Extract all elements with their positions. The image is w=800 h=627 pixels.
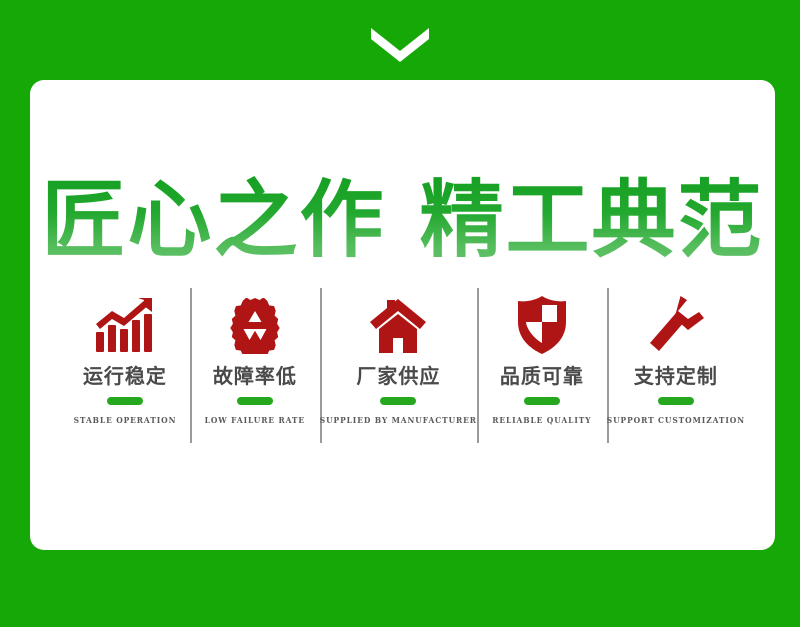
feature-label: 厂家供应 <box>356 364 440 388</box>
page-title-right: 精工典范 <box>420 171 764 269</box>
feature-item-stable-operation[interactable]: 运行稳定 STABLE OPERATION <box>60 288 190 453</box>
page-title: 匠心之作精工典范 <box>30 172 775 268</box>
feature-label: 品质可靠 <box>500 364 584 388</box>
hammer-icon <box>647 292 705 354</box>
feature-subtitle: SUPPORT CUSTOMIZATION <box>607 416 745 425</box>
bar-chart-rising-icon <box>94 292 156 354</box>
feature-subtitle: SUPPLIED BY MANUFACTURER <box>320 416 477 425</box>
page-title-left: 匠心之作 <box>41 171 385 269</box>
feature-underline <box>380 397 416 405</box>
feature-label: 运行稳定 <box>83 364 167 388</box>
feature-list: 运行稳定 STABLE OPERATION 故障率低 <box>60 288 745 453</box>
feature-underline <box>524 397 560 405</box>
shield-check-icon <box>517 292 567 354</box>
feature-underline <box>237 397 273 405</box>
feature-item-low-failure-rate[interactable]: 故障率低 LOW FAILURE RATE <box>190 288 320 453</box>
feature-item-supplied-by-manufacturer[interactable]: 厂家供应 SUPPLIED BY MANUFACTURER <box>320 288 477 453</box>
factory-house-icon <box>368 292 428 354</box>
feature-subtitle: RELIABLE QUALITY <box>492 416 591 425</box>
scroll-down-indicator[interactable] <box>0 24 800 66</box>
feature-underline <box>658 397 694 405</box>
gear-icon <box>227 292 283 354</box>
feature-subtitle: STABLE OPERATION <box>74 416 177 425</box>
feature-item-support-customization[interactable]: 支持定制 SUPPORT CUSTOMIZATION <box>607 288 745 453</box>
content-card: 匠心之作精工典范 运行稳定 S <box>30 80 775 550</box>
feature-label: 故障率低 <box>213 364 297 388</box>
chevron-down-icon <box>371 28 429 62</box>
feature-subtitle: LOW FAILURE RATE <box>205 416 305 425</box>
feature-label: 支持定制 <box>634 364 718 388</box>
feature-item-reliable-quality[interactable]: 品质可靠 RELIABLE QUALITY <box>477 288 607 453</box>
feature-underline <box>107 397 143 405</box>
